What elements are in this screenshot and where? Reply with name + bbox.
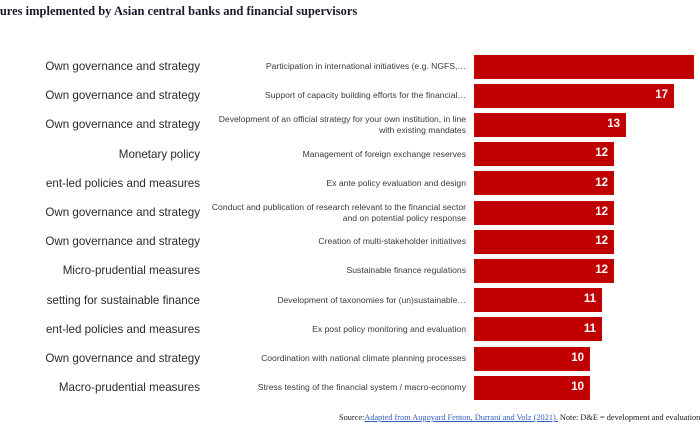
bar-row: Own governance and strategyCoordination …	[0, 344, 700, 373]
measure-description-label: Participation in international initiativ…	[204, 61, 474, 72]
bar-row: Monetary policyManagement of foreign exc…	[0, 140, 700, 169]
bar-row: Own governance and strategyParticipation…	[0, 52, 700, 81]
bar-track: 12	[474, 227, 700, 256]
bar[interactable]: 12	[474, 171, 614, 195]
page-subtitle: ementing CBFS)	[0, 25, 700, 40]
bar-row: Own governance and strategyDevelopment o…	[0, 110, 700, 139]
bar[interactable]: 12	[474, 259, 614, 283]
bar[interactable]: 11	[474, 288, 602, 312]
bar-chart-plot-area: Own governance and strategyParticipation…	[0, 52, 700, 404]
bar-value-label: 10	[571, 353, 590, 365]
bar-track: 11	[474, 315, 700, 344]
measure-description-label: Conduct and publication of research rele…	[204, 202, 474, 224]
measure-description-label: Stress testing of the financial system /…	[204, 382, 474, 393]
bar[interactable]	[474, 55, 694, 79]
category-label: Macro-prudential measures	[0, 381, 204, 394]
category-label: Monetary policy	[0, 148, 204, 161]
bar-value-label: 11	[584, 294, 602, 306]
category-label: Own governance and strategy	[0, 60, 204, 73]
category-label: ent-led policies and measures	[0, 177, 204, 190]
source-link[interactable]: Adapted from Augoyard Fenton, Durrani an…	[364, 413, 557, 422]
measure-description-label: Development of an official strategy for …	[204, 114, 474, 136]
page-title: d environmental measures implemented by …	[0, 4, 700, 19]
bar-value-label: 12	[595, 207, 614, 219]
measure-description-label: Management of foreign exchange reserves	[204, 149, 474, 160]
bar-track	[474, 52, 700, 81]
bar-row: ent-led policies and measuresEx post pol…	[0, 315, 700, 344]
measure-description-label: Ex post policy monitoring and evaluation	[204, 324, 474, 335]
category-label: Own governance and strategy	[0, 206, 204, 219]
bar-row: Own governance and strategyConduct and p…	[0, 198, 700, 227]
bar-track: 12	[474, 140, 700, 169]
bar[interactable]: 13	[474, 113, 626, 137]
bar-track: 11	[474, 286, 700, 315]
bar[interactable]: 10	[474, 347, 590, 371]
source-note-text: Note: D&E = development and evaluation.	[558, 413, 700, 422]
category-label: Own governance and strategy	[0, 118, 204, 131]
bar-row: Macro-prudential measuresStress testing …	[0, 373, 700, 402]
bar-row: Own governance and strategyCreation of m…	[0, 227, 700, 256]
bar[interactable]: 11	[474, 317, 602, 341]
category-label: Own governance and strategy	[0, 235, 204, 248]
bar[interactable]: 17	[474, 84, 674, 108]
bar-value-label: 12	[595, 236, 614, 248]
measure-description-label: Creation of multi-stakeholder initiative…	[204, 236, 474, 247]
category-label: Own governance and strategy	[0, 352, 204, 365]
bar-track: 12	[474, 169, 700, 198]
measure-description-label: Ex ante policy evaluation and design	[204, 178, 474, 189]
bar-value-label: 13	[607, 119, 626, 131]
measure-description-label: Sustainable finance regulations	[204, 265, 474, 276]
measure-description-label: Coordination with national climate plann…	[204, 353, 474, 364]
bar-track: 12	[474, 256, 700, 285]
bar[interactable]: 12	[474, 142, 614, 166]
bar[interactable]: 12	[474, 201, 614, 225]
bar-value-label: 17	[655, 90, 674, 102]
measure-description-label: Support of capacity building efforts for…	[204, 90, 474, 101]
chart-header: d environmental measures implemented by …	[0, 4, 700, 40]
bar-row: setting for sustainable financeDevelopme…	[0, 286, 700, 315]
bar[interactable]: 12	[474, 230, 614, 254]
bar-track: 10	[474, 373, 700, 402]
bar-row: Own governance and strategySupport of ca…	[0, 81, 700, 110]
bar-track: 12	[474, 198, 700, 227]
bar-value-label: 12	[595, 148, 614, 160]
category-label: setting for sustainable finance	[0, 294, 204, 307]
bar-value-label: 12	[595, 265, 614, 277]
source-note: Source:Adapted from Augoyard Fenton, Dur…	[339, 412, 700, 423]
source-prefix-label: Source:	[339, 413, 364, 422]
measure-description-label: Development of taxonomies for (un)sustai…	[204, 295, 474, 306]
bar-track: 13	[474, 110, 700, 139]
bar-track: 17	[474, 81, 700, 110]
bar-row: Micro-prudential measuresSustainable fin…	[0, 256, 700, 285]
bar[interactable]: 10	[474, 376, 590, 400]
category-label: ent-led policies and measures	[0, 323, 204, 336]
bar-value-label: 11	[584, 324, 602, 336]
bar-value-label: 10	[571, 382, 590, 394]
bar-value-label: 12	[595, 178, 614, 190]
category-label: Own governance and strategy	[0, 89, 204, 102]
bar-track: 10	[474, 344, 700, 373]
category-label: Micro-prudential measures	[0, 264, 204, 277]
bar-row: ent-led policies and measuresEx ante pol…	[0, 169, 700, 198]
